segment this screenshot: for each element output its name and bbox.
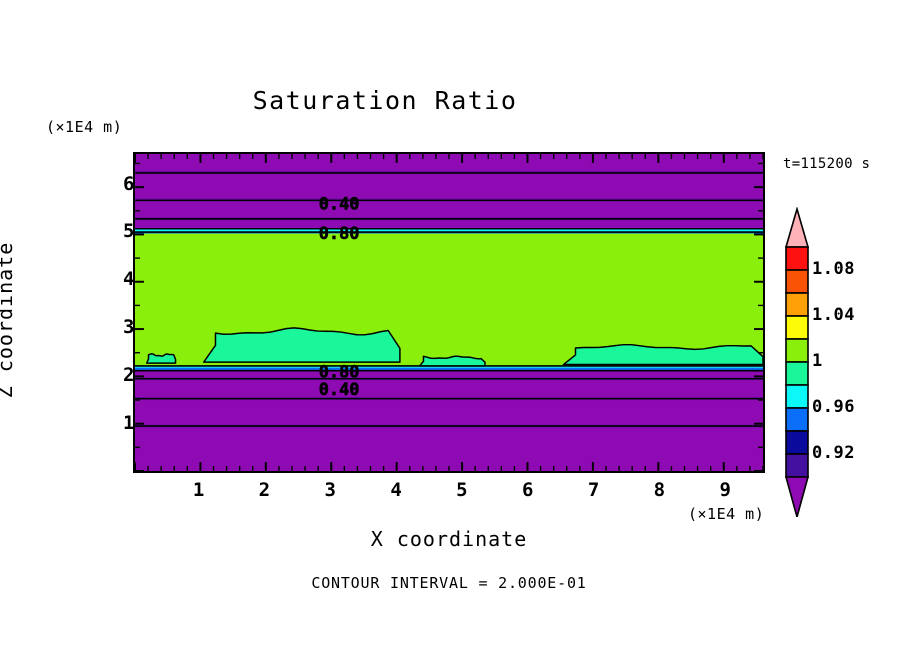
colorbar-band (786, 408, 808, 431)
x-tick-label: 7 (574, 479, 614, 501)
y-tick-label: 5 (95, 220, 135, 242)
y-axis-units-label: (×1E4 m) (46, 118, 122, 136)
contour-plot-area: 0.400.800.800.40 (133, 152, 765, 473)
y-tick-label: 4 (95, 268, 135, 290)
contour-label: 0.80 (319, 223, 360, 243)
colorbar-tick-label: 1.08 (812, 259, 882, 279)
y-axis-title: Z coordinate (0, 235, 17, 405)
x-axis-units-label: (×1E4 m) (688, 505, 764, 523)
contour-field: 0.400.800.800.40 (135, 154, 763, 471)
contour-label: 0.40 (319, 194, 360, 214)
contour-label: 0.40 (319, 379, 360, 399)
colorbar-band (786, 385, 808, 408)
colorbar-tick-label: 1 (812, 351, 882, 371)
time-stamp-annotation: t=115200 s (783, 156, 870, 172)
colorbar-tick-label: 0.96 (812, 397, 882, 417)
colorbar-band (786, 270, 808, 293)
x-tick-label: 3 (311, 479, 351, 501)
colorbar-band (786, 293, 808, 316)
x-tick-label: 8 (640, 479, 680, 501)
x-tick-label: 4 (376, 479, 416, 501)
contour-interval-caption: CONTOUR INTERVAL = 2.000E-01 (133, 574, 765, 592)
x-tick-label: 2 (245, 479, 285, 501)
colorbar-band (786, 454, 808, 477)
colorbar-band (786, 362, 808, 385)
colorbar-bottom-tip (786, 477, 808, 517)
colorbar-band (786, 247, 808, 270)
contour-blob (420, 356, 485, 366)
colorbar-band (786, 431, 808, 454)
page-title: Saturation Ratio (0, 86, 770, 115)
colorbar-tick-label: 1.04 (812, 305, 882, 325)
colorbar-tick-label: 0.92 (812, 443, 882, 463)
field-layer (135, 371, 763, 471)
x-tick-label: 6 (508, 479, 548, 501)
colorbar-top-tip (786, 209, 808, 247)
colorbar (779, 207, 815, 517)
x-tick-label: 1 (179, 479, 219, 501)
y-tick-label: 6 (95, 173, 135, 195)
y-tick-label: 2 (95, 364, 135, 386)
figure-canvas: Saturation Ratio (×1E4 m) (×1E4 m) t=115… (0, 0, 904, 654)
x-axis-title: X coordinate (133, 527, 765, 551)
colorbar-band (786, 339, 808, 362)
contour-blob (563, 345, 763, 365)
x-tick-label: 9 (706, 479, 746, 501)
x-tick-label: 5 (442, 479, 482, 501)
colorbar-band (786, 316, 808, 339)
y-tick-label: 3 (95, 316, 135, 338)
y-tick-label: 1 (95, 412, 135, 434)
